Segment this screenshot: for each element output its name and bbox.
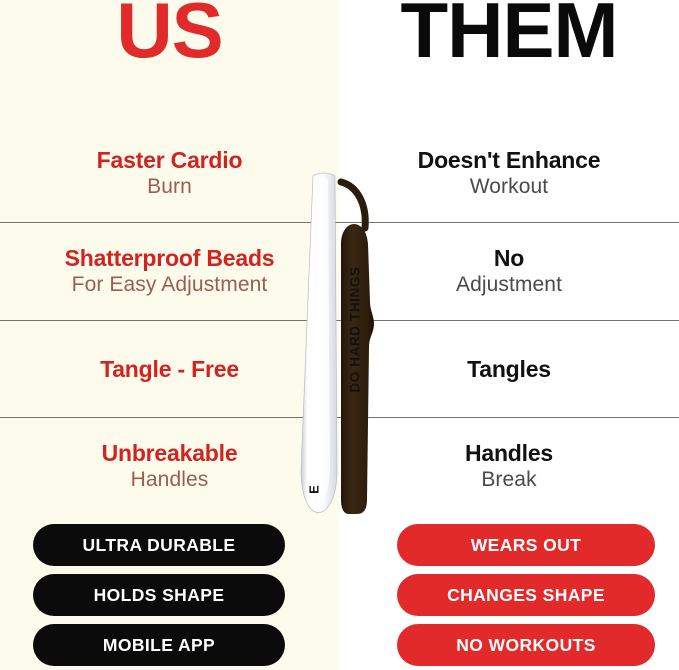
drawback-pill-wears-out[interactable]: WEARS OUT (397, 524, 655, 566)
comparison-cell-them: Handles Break (339, 417, 679, 515)
drawback-pill-no-workouts[interactable]: NO WORKOUTS (397, 624, 655, 666)
feature-title: Faster Cardio (97, 147, 243, 173)
comparison-cell-them: No Adjustment (339, 222, 679, 320)
comparison-cell-us: Tangle - Free (0, 320, 339, 418)
feature-title: Tangle - Free (100, 356, 239, 382)
comparison-cell-them: Tangles (339, 320, 679, 418)
comparison-row: Unbreakable Handles Handles Break (0, 417, 679, 515)
column-header-them: THEM (339, 0, 679, 78)
feature-subtitle: Handles (131, 467, 209, 492)
comparison-cell-us: Unbreakable Handles (0, 417, 339, 515)
comparison-row: Shatterproof Beads For Easy Adjustment N… (0, 222, 679, 320)
feature-subtitle: Break (481, 467, 536, 492)
comparison-row: Tangle - Free Tangles (0, 320, 679, 418)
benefit-pill-ultra-durable[interactable]: ULTRA DURABLE (33, 524, 285, 566)
comparison-cell-them: Doesn't Enhance Workout (339, 124, 679, 222)
comparison-cell-us: Shatterproof Beads For Easy Adjustment (0, 222, 339, 320)
feature-title: Handles (465, 440, 553, 466)
feature-subtitle: Adjustment (456, 272, 562, 297)
feature-subtitle: For Easy Adjustment (72, 272, 268, 297)
comparison-cell-us: Faster Cardio Burn (0, 124, 339, 222)
benefit-pill-holds-shape[interactable]: HOLDS SHAPE (33, 574, 285, 616)
feature-subtitle: Workout (470, 174, 549, 199)
feature-title: Unbreakable (102, 440, 238, 466)
feature-title: Tangles (467, 356, 551, 382)
feature-title: No (494, 245, 524, 271)
benefit-pill-mobile-app[interactable]: MOBILE APP (33, 624, 285, 666)
feature-title: Doesn't Enhance (418, 147, 601, 173)
comparison-infographic: US THEM Faster Cardio Burn Doesn't Enhan… (0, 0, 679, 670)
comparison-row: Faster Cardio Burn Doesn't Enhance Worko… (0, 124, 679, 222)
column-header-us: US (0, 0, 339, 78)
feature-subtitle: Burn (147, 174, 192, 199)
feature-title: Shatterproof Beads (65, 245, 275, 271)
drawback-pill-changes-shape[interactable]: CHANGES SHAPE (397, 574, 655, 616)
